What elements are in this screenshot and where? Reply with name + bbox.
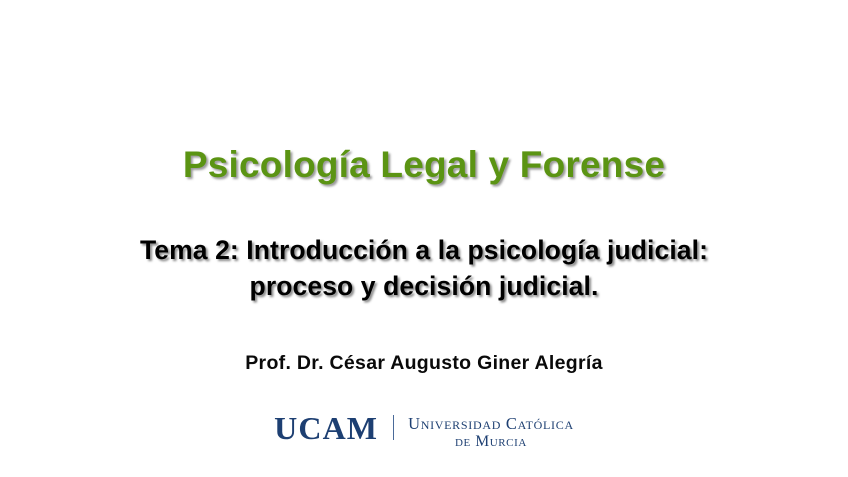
logo-divider — [393, 415, 394, 440]
logo-name-line-2: de Murcia — [408, 433, 574, 450]
author-block: Prof. Dr. César Augusto Giner Alegría — [0, 350, 848, 376]
title-block: Psicología Legal y Forense — [0, 143, 848, 187]
author-name: Prof. Dr. César Augusto Giner Alegría — [0, 350, 848, 376]
logo-name-block: Universidad Católica de Murcia — [408, 409, 574, 450]
logo-inner: UCAM Universidad Católica de Murcia — [274, 409, 574, 450]
subtitle-block: Tema 2: Introducción a la psicología jud… — [0, 232, 848, 304]
presentation-slide: Psicología Legal y Forense Tema 2: Intro… — [0, 0, 848, 477]
subtitle-line-1: Tema 2: Introducción a la psicología jud… — [0, 232, 848, 268]
subtitle-line-2: proceso y decisión judicial. — [0, 268, 848, 304]
ucam-wordmark: UCAM — [274, 409, 378, 445]
logo-name-line-1: Universidad Católica — [408, 415, 574, 432]
ucam-logo: UCAM Universidad Católica de Murcia — [0, 409, 848, 450]
page-title: Psicología Legal y Forense — [0, 143, 848, 187]
